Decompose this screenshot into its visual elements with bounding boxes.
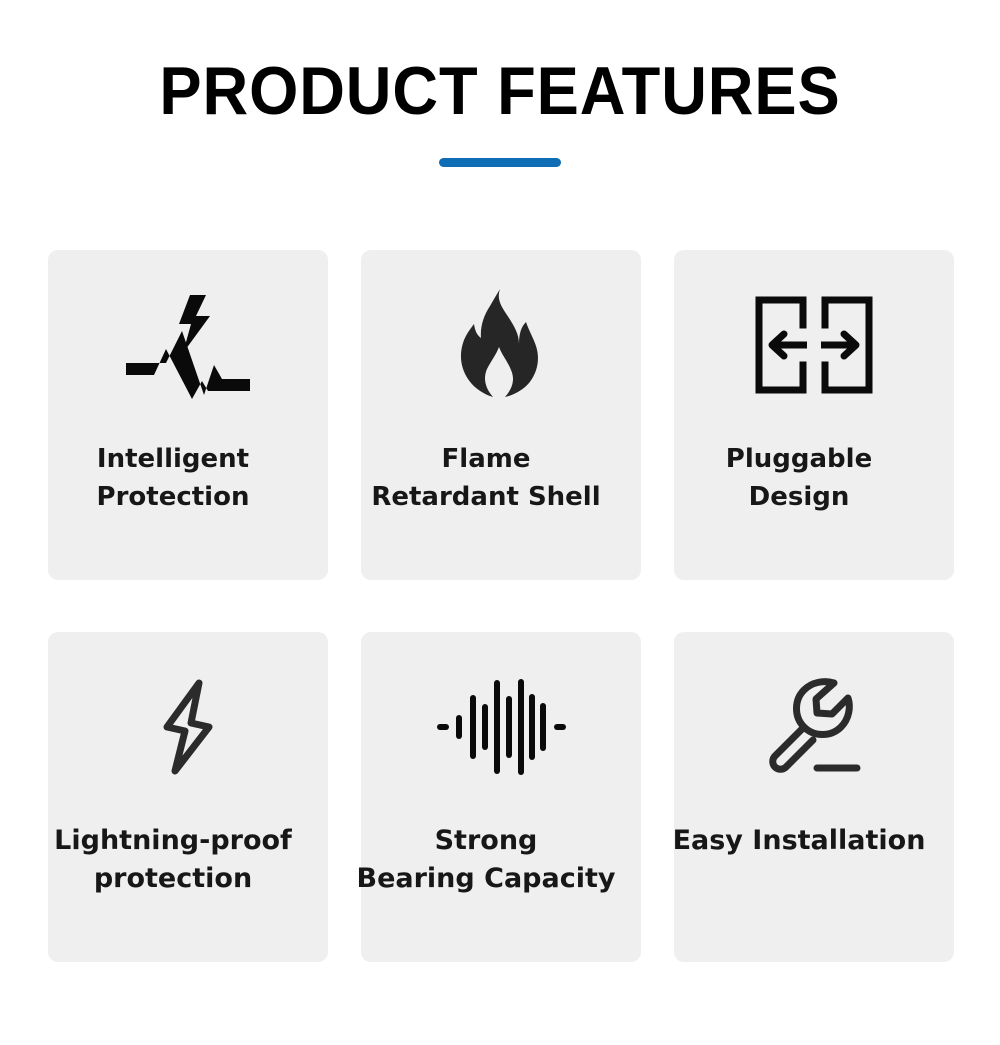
product-features-page: PRODUCT FEATURES Intelligent Protection (0, 0, 1000, 1045)
feature-card-strong-bearing-capacity[interactable]: Strong Bearing Capacity (361, 632, 641, 962)
flame-icon (361, 250, 641, 440)
feature-label: Flame Retardant Shell (316, 440, 656, 516)
page-title: PRODUCT FEATURES (35, 52, 965, 130)
feature-label: Lightning-proof protection (3, 822, 343, 898)
feature-label: Intelligent Protection (3, 440, 343, 516)
surge-waveform-bolt-icon (48, 250, 328, 440)
waveform-bars-icon (361, 632, 641, 822)
title-underline-accent (439, 158, 561, 167)
pluggable-panels-arrows-icon (674, 250, 954, 440)
lightning-bolt-outline-icon (48, 632, 328, 822)
feature-label: Easy Installation (629, 822, 969, 860)
feature-card-flame-retardant-shell[interactable]: Flame Retardant Shell (361, 250, 641, 580)
feature-label: Strong Bearing Capacity (316, 822, 656, 898)
feature-card-easy-installation[interactable]: Easy Installation (674, 632, 954, 962)
page-header: PRODUCT FEATURES (0, 52, 1000, 167)
features-grid: Intelligent Protection Flame Retardant S… (48, 250, 954, 962)
feature-card-lightning-proof-protection[interactable]: Lightning-proof protection (48, 632, 328, 962)
wrench-icon (674, 632, 954, 822)
feature-card-intelligent-protection[interactable]: Intelligent Protection (48, 250, 328, 580)
feature-card-pluggable-design[interactable]: Pluggable Design (674, 250, 954, 580)
feature-label: Pluggable Design (629, 440, 969, 516)
